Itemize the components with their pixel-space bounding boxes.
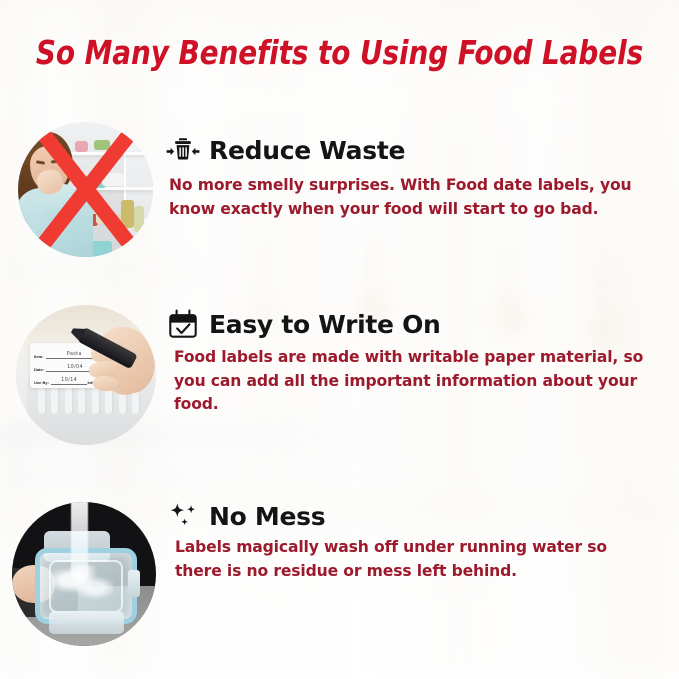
benefit-3-heading-row: No Mess — [166, 496, 325, 536]
benefit-2-body-text: Food labels are made with writable paper… — [174, 346, 664, 417]
red-x-mark-overlay-icon — [18, 122, 153, 257]
food-labels-benefits-infographic: So Many Benefits to Using Food Labels — [0, 0, 679, 679]
trash-reduce-icon — [166, 133, 200, 167]
sparkles-icon — [166, 499, 200, 533]
label-writing-scene: Item: Pasta Date: 10/04 Use By: 10/14 In… — [16, 305, 156, 445]
container-rinsed-under-running-water-photo — [12, 502, 156, 646]
page-title: So Many Benefits to Using Food Labels — [20, 33, 658, 72]
calendar-check-icon — [166, 307, 200, 341]
benefit-3-heading: No Mess — [209, 504, 325, 529]
hand-writing-on-food-label-with-marker-photo: Item: Pasta Date: 10/04 Use By: 10/14 In… — [16, 305, 156, 445]
label-field-use-by: Use By: — [34, 381, 51, 385]
label-value-use-by: 10/14 — [61, 377, 77, 383]
benefit-1-heading: Reduce Waste — [209, 138, 405, 163]
benefit-1-body-text: No more smelly surprises. With Food date… — [169, 174, 669, 221]
benefit-3-body-text: Labels magically wash off under running … — [175, 536, 645, 583]
benefit-2-heading: Easy to Write On — [209, 312, 441, 337]
woman-smelling-spoiled-food-in-fridge-photo — [18, 122, 153, 257]
benefit-2-heading-row: Easy to Write On — [166, 304, 441, 344]
water-splash — [52, 565, 112, 602]
sink-rinsing-scene — [12, 502, 156, 646]
benefit-1-heading-row: Reduce Waste — [166, 130, 405, 170]
hand-holding-marker-figure — [78, 305, 156, 409]
